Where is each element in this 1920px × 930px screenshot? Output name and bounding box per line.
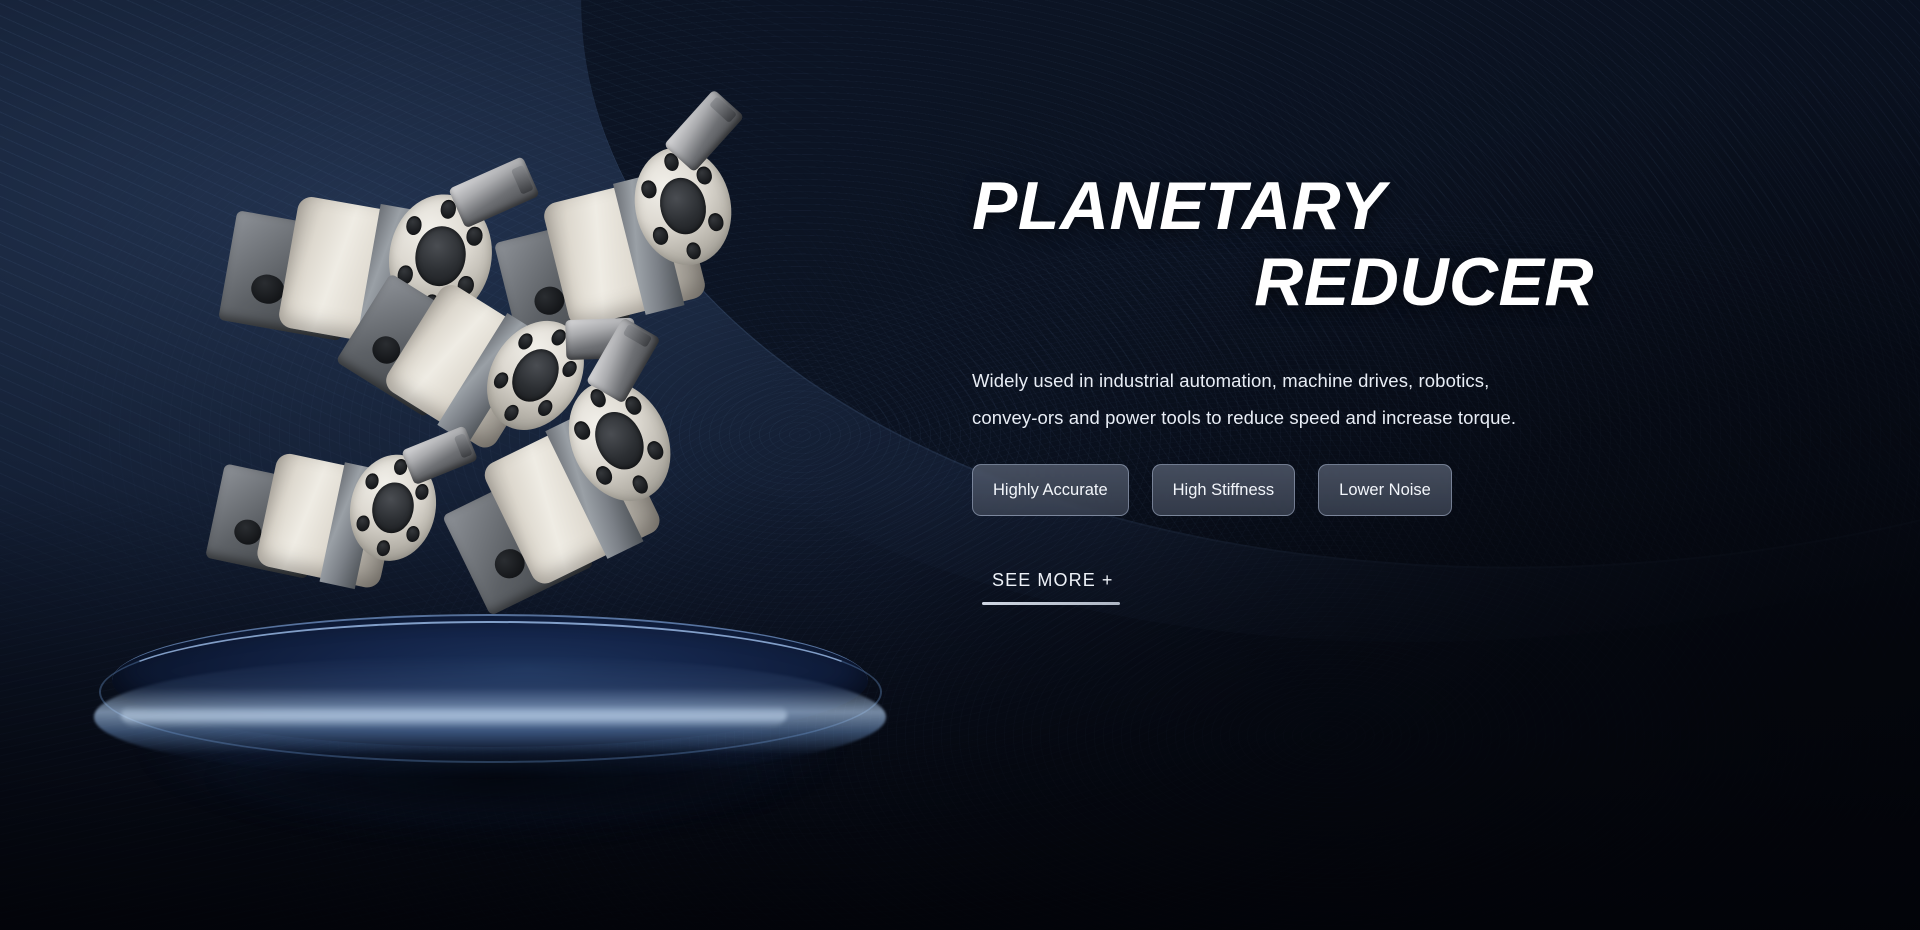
podium-rim-highlight [121, 669, 787, 761]
reducer-hub [586, 404, 653, 478]
reducer-bolt [376, 539, 392, 557]
reducer-bolt [695, 166, 713, 187]
see-more-underline [982, 602, 1120, 605]
reducer-bolt [465, 226, 483, 247]
reducer-bolt [645, 439, 666, 462]
reducer-bolt [405, 524, 421, 542]
banner-title-line-1: PLANETARY [972, 168, 1612, 244]
reducer-bolt [364, 472, 380, 490]
banner-content: PLANETARY REDUCER Widely used in industr… [972, 168, 1612, 605]
reducer-bolt [630, 473, 651, 496]
reducer-bolt [355, 514, 371, 532]
product-podium [40, 600, 940, 830]
feature-badge-list: Highly Accurate High Stiffness Lower Noi… [972, 464, 1612, 516]
banner-title-line-2: REDUCER [972, 244, 1612, 320]
hero-banner: PLANETARY REDUCER Widely used in industr… [0, 0, 1920, 930]
reducer-bolt [572, 419, 593, 442]
badge-lower-noise[interactable]: Lower Noise [1318, 464, 1452, 516]
banner-description: Widely used in industrial automation, ma… [972, 362, 1532, 436]
reducer-bolt [707, 212, 725, 233]
see-more-button[interactable]: SEE MORE + [982, 570, 1134, 605]
reducer-bolt [515, 330, 535, 352]
badge-high-stiffness[interactable]: High Stiffness [1152, 464, 1296, 516]
see-more-label: SEE MORE + [982, 570, 1134, 591]
banner-title: PLANETARY REDUCER [972, 168, 1612, 320]
badge-highly-accurate[interactable]: Highly Accurate [972, 464, 1129, 516]
reducer-bolt [651, 225, 669, 246]
reducer-bolt [640, 179, 658, 200]
reducer-bolt [594, 464, 615, 487]
reducer-bolt [491, 370, 511, 392]
reducer-bolt [685, 240, 703, 261]
